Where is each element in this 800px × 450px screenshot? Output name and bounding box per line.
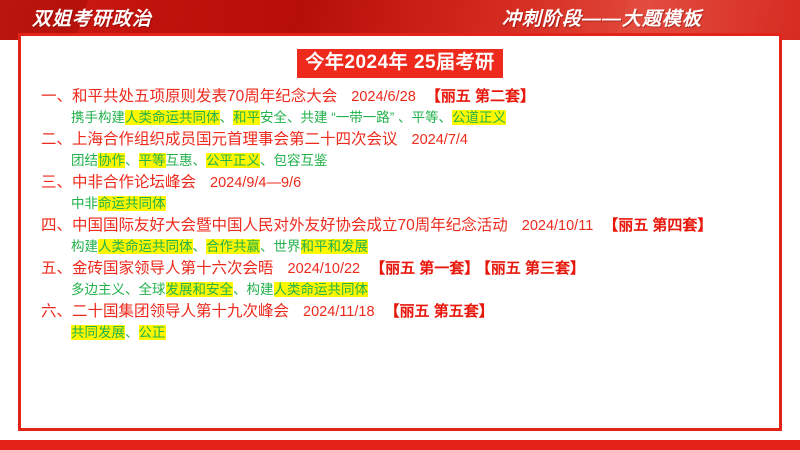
- list-item: 六、二十国集团领导人第十九次峰会2024/11/18【丽五 第五套】共同发展、公…: [41, 301, 765, 343]
- event-list: 一、和平共处五项原则发表70周年纪念大会2024/6/28【丽五 第二套】携手构…: [35, 86, 765, 343]
- keyword-highlighted: 合作共赢: [206, 239, 260, 254]
- page-title: 今年2024年 25届考研: [297, 49, 502, 78]
- keyword-highlighted: 共同发展: [71, 325, 125, 340]
- entry-date: 2024/10/22: [288, 261, 361, 277]
- keyword-highlighted: 和平: [233, 110, 260, 125]
- keyword-plain: 、: [220, 110, 234, 125]
- brand-title: 双姐考研政治: [32, 7, 152, 33]
- entry-number: 六、: [41, 303, 72, 320]
- entry-name: 金砖国家领导人第十六次会晤: [72, 260, 274, 277]
- content-inner: 今年2024年 25届考研 一、和平共处五项原则发表70周年纪念大会2024/6…: [21, 36, 779, 428]
- keyword-highlighted: 公平正义: [206, 153, 260, 168]
- keyword-highlighted: 协作: [98, 153, 125, 168]
- keyword-plain: 多边主义、全球: [71, 282, 166, 297]
- entry-name: 和平共处五项原则发表70周年纪念大会: [72, 88, 337, 105]
- main-title-wrap: 今年2024年 25届考研: [35, 49, 765, 78]
- keyword-plain: 、世界: [260, 239, 301, 254]
- keyword-plain: 、: [125, 153, 139, 168]
- keyword-highlighted: 人类命运共同体: [274, 282, 369, 297]
- entry-heading: 六、二十国集团领导人第十九次峰会2024/11/18【丽五 第五套】: [41, 301, 765, 323]
- keyword-plain: 携手构建: [71, 110, 125, 125]
- entry-keywords: 中非命运共同体: [41, 194, 765, 214]
- entry-number: 五、: [41, 260, 72, 277]
- content-frame: 今年2024年 25届考研 一、和平共处五项原则发表70周年纪念大会2024/6…: [18, 33, 782, 431]
- keyword-plain: 团结: [71, 153, 98, 168]
- keyword-highlighted: 人类命运共同体: [98, 239, 193, 254]
- entry-tag: 【丽五 第三套】: [483, 260, 585, 277]
- list-item: 四、中国国际友好大会暨中国人民对外友好协会成立70周年纪念活动2024/10/1…: [41, 215, 765, 257]
- keyword-plain: 构建: [71, 239, 98, 254]
- keyword-plain: 安全、共建 “一带一路” 、平等、: [260, 110, 452, 125]
- keyword-highlighted: 公道正义: [452, 110, 506, 125]
- keyword-plain: 、: [125, 325, 139, 340]
- entry-name: 二十国集团领导人第十九次峰会: [72, 303, 289, 320]
- entry-number: 二、: [41, 131, 72, 148]
- footer-bar: [0, 440, 800, 450]
- keyword-plain: 中非: [71, 196, 98, 211]
- entry-tag: 【丽五 第二套】: [426, 88, 535, 105]
- entry-number: 三、: [41, 174, 72, 191]
- entry-date: 2024/7/4: [412, 132, 468, 148]
- entry-heading: 二、上海合作组织成员国元首理事会第二十四次会议2024/7/4: [41, 129, 765, 151]
- entry-heading: 一、和平共处五项原则发表70周年纪念大会2024/6/28【丽五 第二套】: [41, 86, 765, 108]
- keyword-plain: 、构建: [233, 282, 274, 297]
- entry-tag: 【丽五 第一套】: [370, 260, 479, 277]
- keyword-highlighted: 和平和发展: [301, 239, 369, 254]
- entry-name: 上海合作组织成员国元首理事会第二十四次会议: [72, 131, 398, 148]
- entry-heading: 四、中国国际友好大会暨中国人民对外友好协会成立70周年纪念活动2024/10/1…: [41, 215, 765, 237]
- keyword-highlighted: 人类命运共同体: [125, 110, 220, 125]
- entry-date: 2024/6/28: [351, 89, 416, 105]
- list-item: 二、上海合作组织成员国元首理事会第二十四次会议2024/7/4团结协作、平等互惠…: [41, 129, 765, 171]
- entry-heading: 五、金砖国家领导人第十六次会晤2024/10/22【丽五 第一套】【丽五 第三套…: [41, 258, 765, 280]
- keyword-highlighted: 公正: [139, 325, 166, 340]
- entry-number: 一、: [41, 88, 72, 105]
- entry-keywords: 携手构建人类命运共同体、和平安全、共建 “一带一路” 、平等、公道正义: [41, 108, 765, 128]
- list-item: 五、金砖国家领导人第十六次会晤2024/10/22【丽五 第一套】【丽五 第三套…: [41, 258, 765, 300]
- entry-keywords: 团结协作、平等互惠、公平正义、包容互鉴: [41, 151, 765, 171]
- entry-name: 中国国际友好大会暨中国人民对外友好协会成立70周年纪念活动: [72, 217, 508, 234]
- list-item: 三、中非合作论坛峰会2024/9/4—9/6中非命运共同体: [41, 172, 765, 214]
- keyword-highlighted: 命运共同体: [98, 196, 166, 211]
- entry-tag: 【丽五 第四套】: [603, 217, 712, 234]
- entry-date: 2024/10/11: [522, 218, 594, 234]
- entry-keywords: 构建人类命运共同体、合作共赢、世界和平和发展: [41, 237, 765, 257]
- keyword-plain: 互惠、: [166, 153, 207, 168]
- entry-date: 2024/9/4—9/6: [210, 175, 301, 191]
- list-item: 一、和平共处五项原则发表70周年纪念大会2024/6/28【丽五 第二套】携手构…: [41, 86, 765, 128]
- slide-root: 双姐考研政治 冲刺阶段——大题模板 今年2024年 25届考研 一、和平共处五项…: [0, 0, 800, 450]
- entry-date: 2024/11/18: [303, 304, 375, 320]
- entry-name: 中非合作论坛峰会: [72, 174, 196, 191]
- keyword-plain: 、: [193, 239, 207, 254]
- entry-keywords: 多边主义、全球发展和安全、构建人类命运共同体: [41, 280, 765, 300]
- keyword-highlighted: 发展和安全: [166, 282, 234, 297]
- entry-tag: 【丽五 第五套】: [385, 303, 494, 320]
- entry-heading: 三、中非合作论坛峰会2024/9/4—9/6: [41, 172, 765, 194]
- section-title: 冲刺阶段——大题模板: [502, 7, 702, 33]
- entry-number: 四、: [41, 217, 72, 234]
- keyword-plain: 、包容互鉴: [260, 153, 328, 168]
- entry-keywords: 共同发展、公正: [41, 323, 765, 343]
- keyword-highlighted: 平等: [139, 153, 166, 168]
